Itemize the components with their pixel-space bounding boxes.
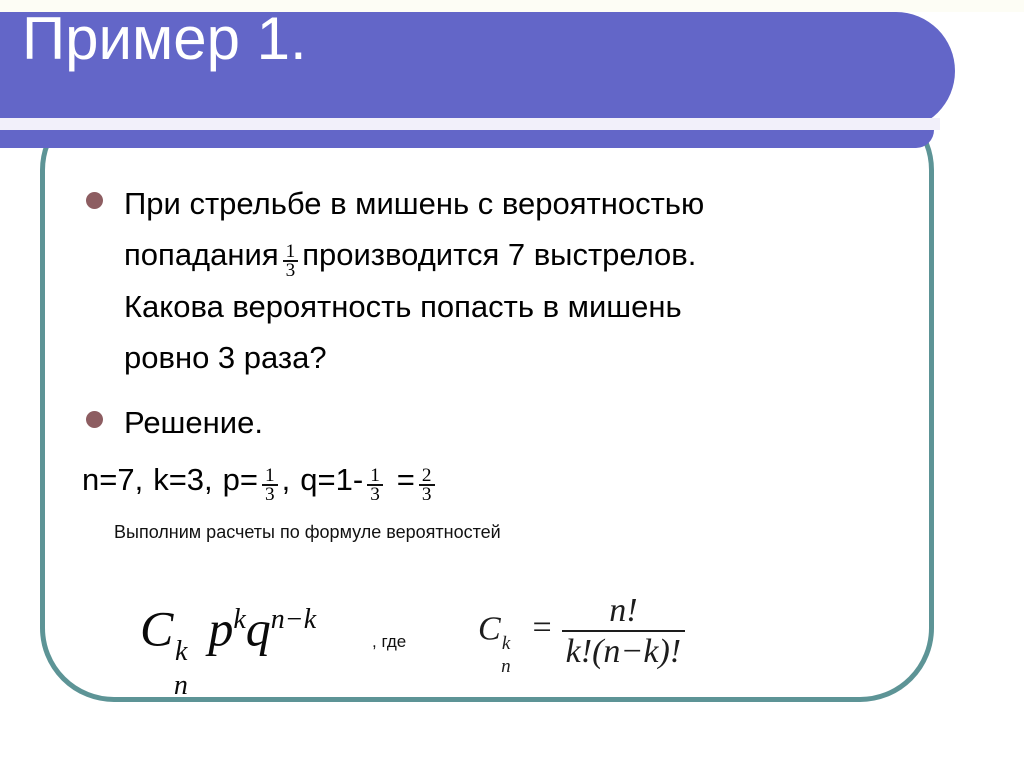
fraction-denominator: 3 [367, 487, 383, 503]
fraction-q-term: 13 [367, 468, 383, 503]
combo-numerator: n! [562, 594, 685, 630]
problem-line-2b: производится 7 выстрелов. [302, 237, 696, 272]
problem-line-2a: попадания [124, 237, 279, 272]
bernoulli-formula: Cknpkqn−k [140, 592, 316, 656]
slide-body: При стрельбе в мишень с вероятностью поп… [78, 178, 918, 543]
bullet-dot-icon [86, 411, 103, 428]
param-p-label: p= [223, 462, 258, 497]
fraction-denominator: 3 [283, 263, 299, 279]
combo-equals: = [532, 609, 551, 647]
p-superscript: k [233, 592, 245, 648]
fraction-numerator: 2 [419, 468, 435, 483]
list-item-problem: При стрельбе в мишень с вероятностью поп… [78, 178, 918, 383]
parameters-line: n=7,k=3,p=13,q=1-13=23 [82, 460, 918, 505]
q-superscript: n−k [271, 592, 316, 648]
fraction-denominator: 3 [419, 487, 435, 503]
title-banner-rule [0, 118, 940, 130]
combo-fraction: n!k!(n−k)! [562, 594, 685, 669]
param-equals: = [397, 462, 415, 497]
formula-row: Cknpkqn−k , где Ckn=n!k!(n−k)! [78, 586, 938, 682]
solution-label: Решение. [124, 405, 263, 440]
where-label: , где [372, 632, 406, 652]
page-title: Пример 1. [22, 8, 307, 70]
fraction-one-third: 13 [283, 244, 299, 279]
param-q-label: q=1- [300, 462, 363, 497]
title-banner-underbar [0, 130, 934, 148]
problem-line-4: ровно 3 раза? [124, 340, 327, 375]
fraction-numerator: 1 [262, 468, 278, 483]
slide-canvas: Пример 1. При стрельбе в мишень с вероят… [0, 0, 1024, 767]
note-text: Выполним расчеты по формуле вероятностей [114, 521, 918, 543]
fraction-denominator: 3 [262, 487, 278, 503]
combo-c: C [478, 610, 501, 647]
problem-text: При стрельбе в мишень с вероятностью поп… [124, 178, 918, 383]
fraction-numerator: 1 [367, 468, 383, 483]
fraction-p-value: 13 [262, 468, 278, 503]
title-banner: Пример 1. [0, 0, 1024, 160]
bullet-dot-icon [86, 192, 103, 209]
c-subscript: n [174, 658, 188, 714]
fraction-q-result: 23 [419, 468, 435, 503]
problem-line-1: При стрельбе в мишень с вероятностью [124, 186, 704, 221]
param-n: n=7, [82, 462, 143, 497]
combinations-formula: Ckn=n!k!(n−k)! [478, 594, 687, 669]
combo-denominator: k!(n−k)! [562, 632, 685, 669]
fraction-numerator: 1 [283, 244, 299, 259]
problem-line-3: Какова вероятность попасть в мишень [124, 289, 682, 324]
combo-subscript: n [501, 648, 511, 686]
param-comma: , [282, 462, 291, 497]
param-k: k=3, [153, 462, 212, 497]
formula-p: p [208, 600, 233, 656]
formula-c: C [140, 600, 173, 656]
formula-q: q [246, 600, 271, 656]
list-item-solution: Решение. [78, 397, 918, 448]
